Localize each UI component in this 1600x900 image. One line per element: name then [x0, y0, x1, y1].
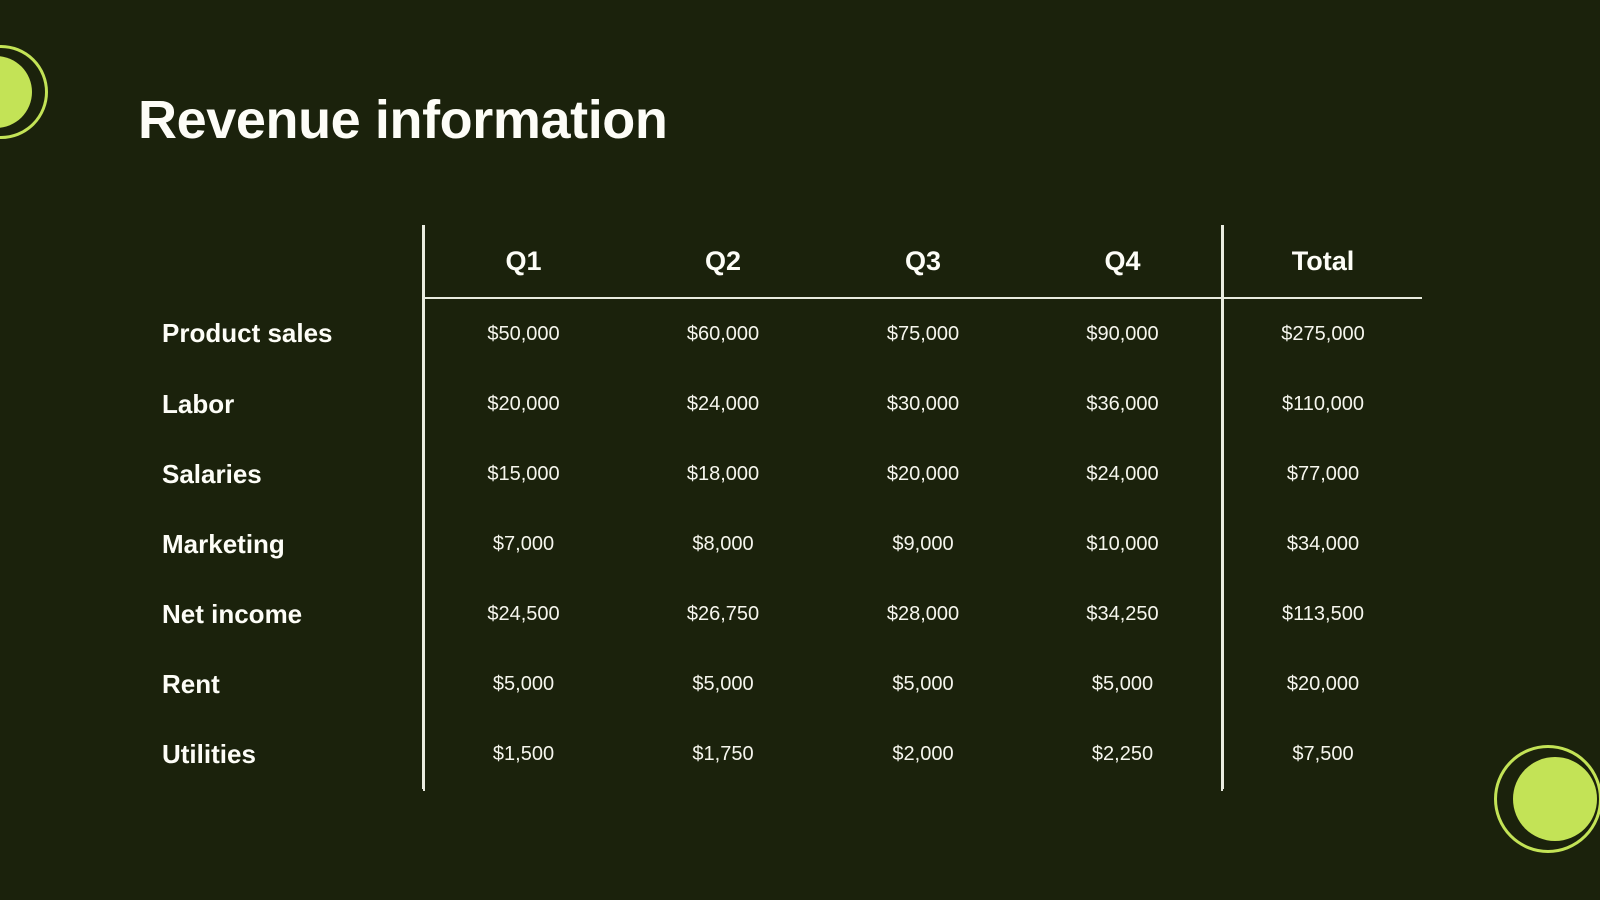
column-header-q2: Q2	[623, 225, 823, 298]
cell-net-income-q1: $24,500	[423, 579, 623, 649]
cell-net-income-q4: $34,250	[1023, 579, 1223, 649]
cell-labor-q2: $24,000	[623, 369, 823, 439]
row-label-labor: Labor	[138, 369, 423, 439]
revenue-table: Q1 Q2 Q3 Q4 Total Product sales $50,000 …	[138, 225, 1422, 789]
cell-rent-q1: $5,000	[423, 649, 623, 719]
table-row: Net income $24,500 $26,750 $28,000 $34,2…	[138, 579, 1422, 649]
cell-utilities-q3: $2,000	[823, 719, 1023, 789]
row-label-utilities: Utilities	[138, 719, 423, 789]
cell-labor-q4: $36,000	[1023, 369, 1223, 439]
cell-utilities-q4: $2,250	[1023, 719, 1223, 789]
table-row: Utilities $1,500 $1,750 $2,000 $2,250 $7…	[138, 719, 1422, 789]
cell-salaries-total: $77,000	[1223, 439, 1422, 509]
cell-salaries-q1: $15,000	[423, 439, 623, 509]
table-row: Labor $20,000 $24,000 $30,000 $36,000 $1…	[138, 369, 1422, 439]
table-header: Q1 Q2 Q3 Q4 Total	[138, 225, 1422, 298]
cell-labor-total: $110,000	[1223, 369, 1422, 439]
cell-marketing-q2: $8,000	[623, 509, 823, 579]
cell-rent-total: $20,000	[1223, 649, 1422, 719]
row-label-net-income: Net income	[138, 579, 423, 649]
cell-salaries-q2: $18,000	[623, 439, 823, 509]
table-row: Rent $5,000 $5,000 $5,000 $5,000 $20,000	[138, 649, 1422, 719]
table-header-row: Q1 Q2 Q3 Q4 Total	[138, 225, 1422, 298]
column-header-q1: Q1	[423, 225, 623, 298]
table-divider-right	[1221, 225, 1223, 791]
cell-utilities-q1: $1,500	[423, 719, 623, 789]
cell-rent-q3: $5,000	[823, 649, 1023, 719]
table-divider-left	[423, 225, 425, 791]
cell-utilities-total: $7,500	[1223, 719, 1422, 789]
row-label-salaries: Salaries	[138, 439, 423, 509]
page-title: Revenue information	[138, 92, 667, 149]
cell-salaries-q4: $24,000	[1023, 439, 1223, 509]
revenue-table-container: Q1 Q2 Q3 Q4 Total Product sales $50,000 …	[138, 225, 1428, 791]
column-header-q4: Q4	[1023, 225, 1223, 298]
table-row: Product sales $50,000 $60,000 $75,000 $9…	[138, 298, 1422, 369]
cell-labor-q3: $30,000	[823, 369, 1023, 439]
column-header-q3: Q3	[823, 225, 1023, 298]
cell-net-income-total: $113,500	[1223, 579, 1422, 649]
cell-marketing-q1: $7,000	[423, 509, 623, 579]
cell-net-income-q2: $26,750	[623, 579, 823, 649]
cell-salaries-q3: $20,000	[823, 439, 1023, 509]
column-header-label	[138, 225, 423, 298]
cell-marketing-q4: $10,000	[1023, 509, 1223, 579]
cell-product-sales-q3: $75,000	[823, 298, 1023, 369]
table-header-rule	[423, 297, 1422, 299]
cell-rent-q2: $5,000	[623, 649, 823, 719]
cell-rent-q4: $5,000	[1023, 649, 1223, 719]
cell-marketing-q3: $9,000	[823, 509, 1023, 579]
cell-net-income-q3: $28,000	[823, 579, 1023, 649]
row-label-product-sales: Product sales	[138, 298, 423, 369]
cell-product-sales-total: $275,000	[1223, 298, 1422, 369]
row-label-marketing: Marketing	[138, 509, 423, 579]
column-header-total: Total	[1223, 225, 1422, 298]
row-label-rent: Rent	[138, 649, 423, 719]
slide-canvas: Revenue information Q1 Q2 Q3 Q4 Total	[0, 0, 1600, 900]
cell-marketing-total: $34,000	[1223, 509, 1422, 579]
cell-labor-q1: $20,000	[423, 369, 623, 439]
table-row: Marketing $7,000 $8,000 $9,000 $10,000 $…	[138, 509, 1422, 579]
table-row: Salaries $15,000 $18,000 $20,000 $24,000…	[138, 439, 1422, 509]
cell-product-sales-q4: $90,000	[1023, 298, 1223, 369]
table-body: Product sales $50,000 $60,000 $75,000 $9…	[138, 298, 1422, 789]
cell-product-sales-q2: $60,000	[623, 298, 823, 369]
cell-product-sales-q1: $50,000	[423, 298, 623, 369]
cell-utilities-q2: $1,750	[623, 719, 823, 789]
decorative-circle-bottom-right-icon	[1513, 757, 1597, 841]
